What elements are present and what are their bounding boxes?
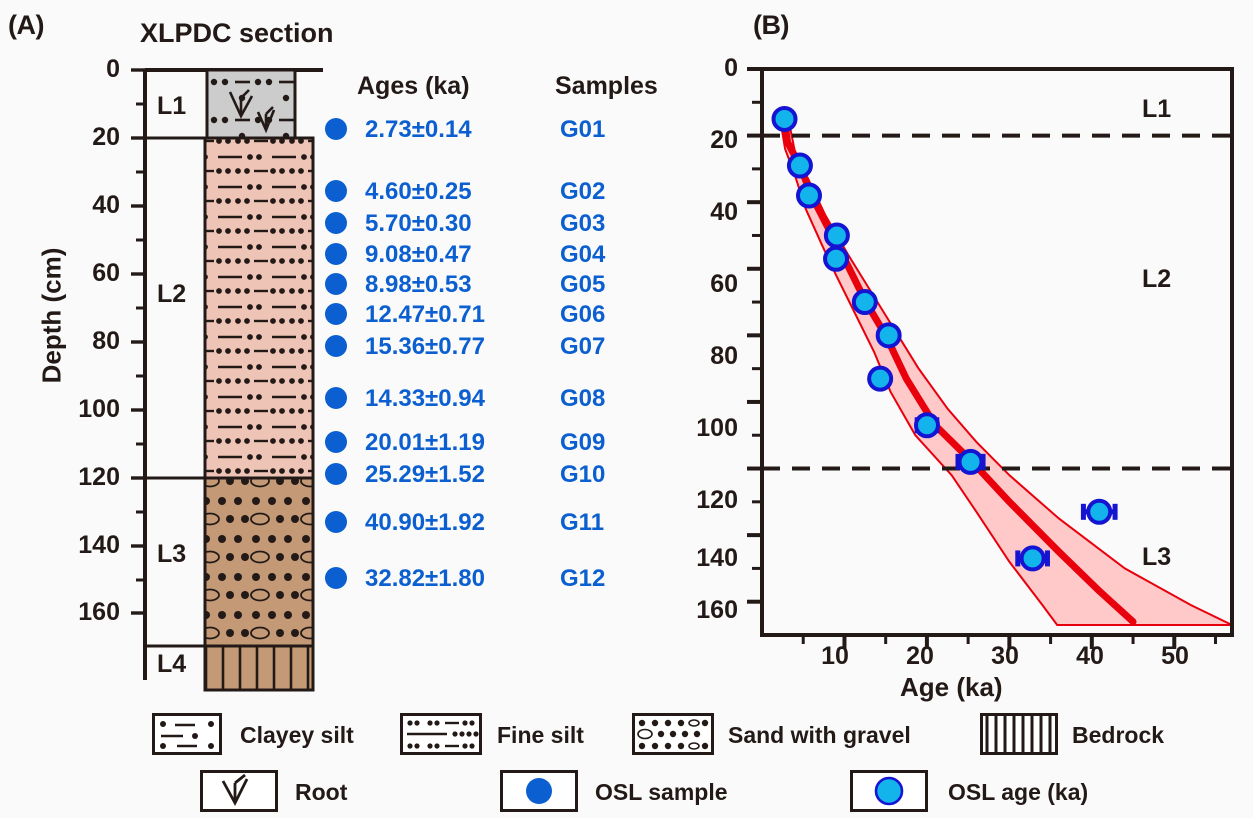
unit-label-l4: L4 [157,650,186,679]
osl-age-marker [789,155,811,177]
osl-age-marker [1022,547,1044,569]
osl-sample-dot-icon [325,118,347,140]
depth-tick-100: 100 [44,395,120,424]
sample-id: G04 [560,241,605,269]
sample-id: G09 [560,429,605,457]
unit-label-l2: L2 [157,280,186,309]
osl-sample-dot-icon [325,273,347,295]
legend-label-fine-silt: Fine silt [497,722,584,749]
osl-sample-dot-icon [325,463,347,485]
age-value: 4.60±0.25 [365,178,472,206]
age-tick-50: 50 [1145,642,1205,671]
sample-id: G02 [560,178,605,206]
legend-label-bedrock: Bedrock [1072,722,1164,749]
age-tick-40: 40 [1060,642,1120,671]
osl-age-marker [869,368,891,390]
age-axis-label: Age (ka) [900,672,1003,703]
sample-id: G10 [560,461,605,489]
legend-swatch-bedrock [980,713,1058,755]
age-value: 14.33±0.94 [365,385,485,413]
b-unit-label-l1: L1 [1142,95,1171,124]
osl-sample-dot-icon [325,511,347,533]
ages-column-header: Ages (ka) [357,72,470,101]
age-value: 15.36±0.77 [365,333,485,361]
osl-sample-dot-icon [325,180,347,202]
depth-tick-20: 20 [58,123,120,152]
litho-box-l4 [205,646,313,690]
b-depth-tick-160: 160 [662,596,738,625]
litho-box-l2 [205,138,313,478]
legend-swatch-sand-with-gravel [632,713,714,755]
sample-id: G05 [560,271,605,299]
age-value: 9.08±0.47 [365,241,472,269]
age-tick-10: 10 [805,642,865,671]
b-depth-tick-140: 140 [662,544,738,573]
depth-tick-160: 160 [44,598,120,627]
sample-id: G12 [560,565,605,593]
sample-id: G01 [560,116,605,144]
depth-tick-60: 60 [58,259,120,288]
depth-tick-140: 140 [44,531,120,560]
sample-id: G07 [560,333,605,361]
legend-label-osl-sample: OSL sample [595,779,728,806]
litho-box-l3 [205,478,313,646]
samples-column-header: Samples [555,72,658,101]
legend-swatch-osl-sample [500,770,578,812]
osl-age-marker [960,451,982,473]
age-tick-30: 30 [975,642,1035,671]
depth-tick-80: 80 [58,327,120,356]
osl-age-marker [1088,501,1110,523]
osl-age-marker [826,224,848,246]
unit-label-l3: L3 [157,540,186,569]
depth-tick-40: 40 [58,191,120,220]
b-depth-tick-80: 80 [676,342,738,371]
age-value: 20.01±1.19 [365,429,485,457]
legend-label-clayey-silt: Clayey silt [240,722,354,749]
age-value: 40.90±1.92 [365,509,485,537]
b-depth-tick-0: 0 [676,54,738,83]
legend-swatch-osl-age [850,770,928,812]
legend-swatch-root [200,770,278,812]
osl-age-marker [774,108,796,130]
b-depth-tick-60: 60 [676,270,738,299]
unit-label-l1: L1 [157,92,186,121]
b-depth-tick-20: 20 [676,126,738,155]
b-depth-tick-40: 40 [676,198,738,227]
age-value: 32.82±1.80 [365,565,485,593]
osl-sample-dot-icon [325,335,347,357]
osl-age-marker [916,414,938,436]
legend-swatch-fine-silt [400,713,482,755]
depth-tick-120: 120 [44,463,120,492]
sample-id: G06 [560,301,605,329]
age-value: 5.70±0.30 [365,210,472,238]
osl-age-marker [878,324,900,346]
sample-id: G03 [560,210,605,238]
age-tick-20: 20 [890,642,950,671]
osl-sample-dot-icon [325,303,347,325]
legend-swatch-clayey-silt [152,713,222,755]
b-depth-tick-100: 100 [662,414,738,443]
b-depth-tick-120: 120 [662,486,738,515]
litho-box-l1 [207,70,295,138]
age-value: 12.47±0.71 [365,301,485,329]
osl-sample-dot-icon [325,387,347,409]
osl-age-marker [825,248,847,270]
legend-label-sand-with-gravel: Sand with gravel [728,722,911,749]
b-unit-label-l2: L2 [1142,265,1171,294]
osl-sample-dot-icon [325,243,347,265]
sample-id: G11 [560,509,604,537]
osl-age-marker [854,291,876,313]
age-value: 25.29±1.52 [365,461,485,489]
depth-tick-0: 0 [58,55,120,84]
osl-age-marker [798,185,820,207]
age-value: 2.73±0.14 [365,116,472,144]
b-unit-label-l3: L3 [1142,543,1171,572]
osl-sample-dot-icon [325,212,347,234]
sample-id: G08 [560,385,605,413]
legend-label-root: Root [295,779,347,806]
osl-sample-dot-icon [325,567,347,589]
age-value: 8.98±0.53 [365,271,472,299]
legend-label-osl-age: OSL age (ka) [948,779,1088,806]
osl-sample-dot-icon [325,431,347,453]
